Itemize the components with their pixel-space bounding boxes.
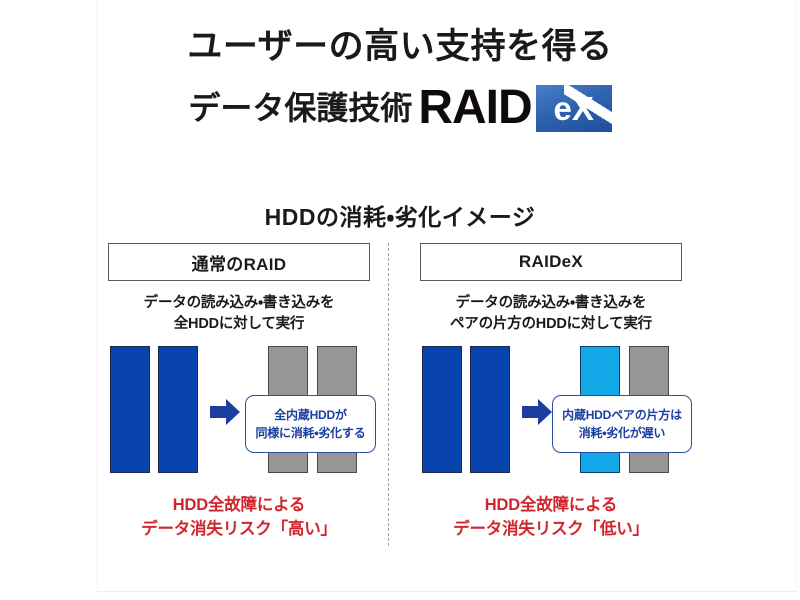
callout-line1: 全内蔵HDDが xyxy=(274,406,347,424)
callout-line2: 消耗・劣化が遅い xyxy=(579,424,665,442)
callout-raidex: 内蔵HDDペアの片方は 消耗・劣化が遅い xyxy=(552,395,692,453)
panel-title-raidex: RAIDeX xyxy=(420,243,682,281)
hdd-bar xyxy=(158,346,198,473)
panel-description-raidex: データの読み込み・書き込みを ペアの片方のHDDに対して実行 xyxy=(420,293,682,335)
hdd-diagram-standard-raid: 全内蔵HDDが 同様に消耗・劣化する xyxy=(108,346,370,476)
logo-ex-text: eX xyxy=(553,92,593,125)
risk-line2: データ消失リスク「低い」 xyxy=(420,518,682,542)
panel-description-line1: データの読み込み・書き込みを xyxy=(420,293,682,314)
slide-root: ユーザーの高い支持を得る データ保護技術 RAID eX HDDの消耗・劣化イメ… xyxy=(0,0,800,600)
logo-prefix-text: データ保護技術 xyxy=(188,92,412,124)
panel-divider xyxy=(388,243,389,546)
risk-line1: HDD全故障による xyxy=(108,494,370,518)
hdd-bar xyxy=(110,346,150,473)
logo-ex-badge: eX xyxy=(536,85,612,132)
callout-standard-raid: 全内蔵HDDが 同様に消耗・劣化する xyxy=(245,395,376,453)
panel-raidex: RAIDeX データの読み込み・書き込みを ペアの片方のHDDに対して実行 内蔵… xyxy=(420,243,682,553)
callout-line2: 同様に消耗・劣化する xyxy=(255,424,365,442)
hdd-diagram-raidex: 内蔵HDDペアの片方は 消耗・劣化が遅い xyxy=(420,346,682,476)
product-logo: データ保護技術 RAID eX xyxy=(0,84,800,132)
panel-standard-raid: 通常のRAID データの読み込み・書き込みを 全HDDに対して実行 全内蔵HDD… xyxy=(108,243,370,553)
panel-description-standard-raid: データの読み込み・書き込みを 全HDDに対して実行 xyxy=(108,293,370,335)
hdd-bar xyxy=(422,346,462,473)
page-headline: ユーザーの高い支持を得る xyxy=(0,26,800,68)
panel-description-line2: ペアの片方のHDDに対して実行 xyxy=(420,314,682,335)
right-arrow-icon xyxy=(522,399,552,425)
risk-line2: データ消失リスク「高い」 xyxy=(108,518,370,542)
right-arrow-icon xyxy=(210,399,240,425)
risk-line1: HDD全故障による xyxy=(420,494,682,518)
hdd-bar xyxy=(470,346,510,473)
callout-line1: 内蔵HDDペアの片方は xyxy=(562,406,682,424)
panel-description-line1: データの読み込み・書き込みを xyxy=(108,293,370,314)
risk-text-standard-raid: HDD全故障による データ消失リスク「高い」 xyxy=(108,494,370,542)
risk-text-raidex: HDD全故障による データ消失リスク「低い」 xyxy=(420,494,682,542)
panel-title-standard-raid: 通常のRAID xyxy=(108,243,370,281)
section-heading: HDDの消耗・劣化イメージ xyxy=(0,198,800,232)
logo-raid-text: RAID xyxy=(418,84,531,132)
panel-description-line2: 全HDDに対して実行 xyxy=(108,314,370,335)
